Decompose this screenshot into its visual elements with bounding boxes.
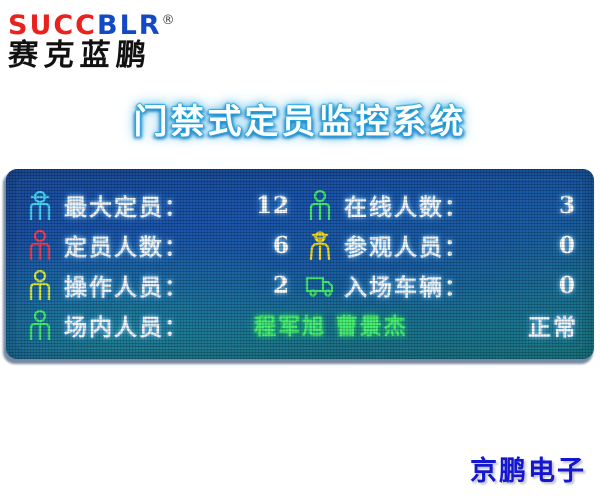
person-icon-svg: [27, 230, 53, 260]
person-icon: [20, 267, 60, 303]
led-value: 3: [530, 192, 586, 219]
led-label-text: 最大定员：: [64, 195, 189, 221]
led-label: 入场车辆：: [340, 268, 530, 302]
led-value-text: 2: [273, 272, 290, 299]
footer-company-mark: 京鹏电子: [470, 449, 586, 488]
led-row: 操作人员： 2: [20, 265, 586, 305]
person-hat-icon-svg: [307, 230, 333, 260]
led-row-right-group: 入场车辆： 0: [300, 267, 586, 303]
led-label-text: 场内人员：: [64, 315, 189, 341]
led-value: 6: [244, 232, 300, 259]
led-value-text: 0: [559, 232, 576, 259]
led-label: 场内人员：: [60, 308, 232, 342]
led-row-left-group: 定员人数： 6: [20, 227, 300, 263]
led-label-text: 操作人员：: [64, 275, 189, 301]
led-value-text: 6: [273, 232, 290, 259]
logo-latin-red: SUCC: [8, 10, 97, 41]
led-row: 最大定员： 12 在线人数：: [20, 185, 586, 225]
led-label-text: 参观人员：: [344, 235, 469, 261]
person-icon-svg: [27, 310, 53, 340]
led-label-text: 在线人数：: [344, 195, 469, 221]
person-icon: [20, 227, 60, 263]
led-value-text: 12: [256, 192, 290, 219]
led-label: 定员人数：: [60, 228, 244, 262]
led-label: 在线人数：: [340, 188, 530, 222]
led-value: 0: [530, 232, 586, 259]
logo-chinese-name: 赛克蓝鹏: [7, 38, 250, 74]
led-row-occupants: 场内人员： 程军旭 曹景杰 正常: [20, 305, 586, 345]
logo-latin-blue: BLR: [97, 10, 162, 41]
led-row-right-group: 在线人数： 3: [300, 187, 586, 223]
person-hat-icon: [300, 227, 340, 263]
led-value-text: 0: [559, 272, 576, 299]
led-row-left-group: 最大定员： 12: [20, 187, 300, 223]
truck-icon: [300, 267, 340, 303]
page-title: 门禁式定员监控系统: [0, 94, 600, 143]
led-content-grid: 最大定员： 12 在线人数：: [20, 181, 586, 351]
led-label-text: 定员人数：: [64, 235, 189, 261]
led-value: 2: [244, 272, 300, 299]
truck-icon-svg: [305, 273, 335, 297]
led-label: 最大定员：: [60, 188, 244, 222]
led-value: 0: [530, 272, 586, 299]
person-cap-icon: [20, 187, 60, 223]
occupant-names: 程军旭 曹景杰: [232, 309, 482, 341]
status-badge: 正常: [482, 308, 586, 342]
status-text: 正常: [528, 315, 578, 341]
company-logo: SUCCBLR® 赛克蓝鹏: [8, 6, 248, 76]
registered-trademark-icon: ®: [162, 13, 175, 28]
logo-latin-text: SUCCBLR®: [8, 6, 248, 36]
led-label: 操作人员：: [60, 268, 244, 302]
led-display-panel: 最大定员： 12 在线人数：: [6, 169, 594, 359]
person-icon-svg: [27, 270, 53, 300]
led-value-text: 3: [559, 192, 576, 219]
led-row: 定员人数： 6: [20, 225, 586, 265]
person-cap-icon-svg: [27, 190, 53, 220]
led-value: 12: [244, 192, 300, 219]
person-icon: [20, 307, 60, 343]
led-label-text: 入场车辆：: [344, 275, 469, 301]
led-label: 参观人员：: [340, 228, 530, 262]
led-row-right-group: 参观人员： 0: [300, 227, 586, 263]
person-icon-svg: [307, 190, 333, 220]
occupant-names-text: 程军旭 曹景杰: [254, 315, 408, 340]
led-row-left-group: 操作人员： 2: [20, 267, 300, 303]
person-icon: [300, 187, 340, 223]
